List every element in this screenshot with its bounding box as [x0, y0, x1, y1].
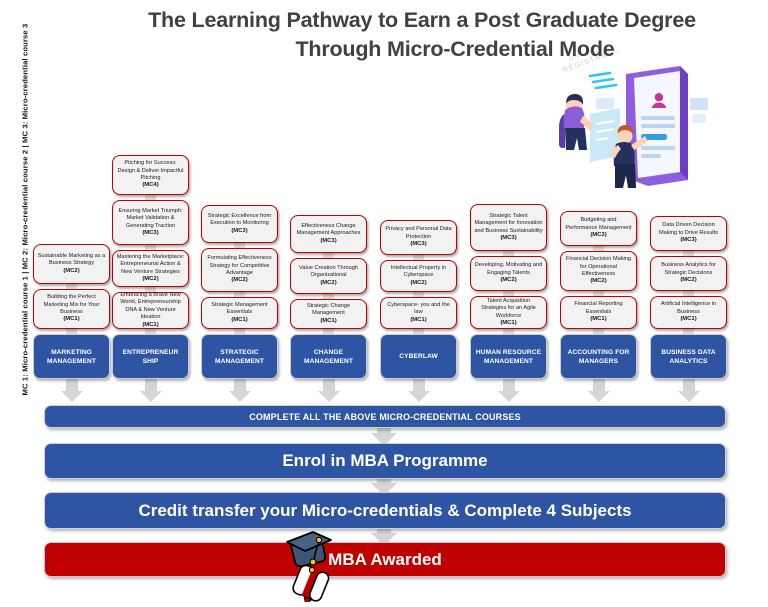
- category-label: BUSINESS DATA ANALYTICS: [653, 348, 724, 366]
- micro-credential-box[interactable]: Strategic Talent Management for Innovati…: [470, 204, 547, 251]
- micro-credential-box[interactable]: Budgeting and Performance Management(MC3…: [560, 211, 637, 246]
- micro-credential-box[interactable]: Business Analytics for Strategic Decisio…: [650, 256, 727, 291]
- micro-credential-code: (MC2): [590, 278, 606, 284]
- micro-credential-box[interactable]: Privacy and Personal Data Protection(MC3…: [380, 220, 457, 255]
- micro-credential-label: Cyberspace- you and the law(MC1): [384, 302, 453, 324]
- micro-credential-label: Financial Decision Making for Operationa…: [564, 256, 633, 286]
- micro-credential-box[interactable]: Ensuring Market Triumph: Market Validati…: [112, 200, 189, 245]
- micro-credential-box[interactable]: Intellectual Property in Cyberspace(MC2): [380, 260, 457, 292]
- micro-credential-code: (MC4): [142, 182, 158, 188]
- category-down-arrow: [290, 379, 367, 407]
- micro-credential-label: Ensuring Market Triumph: Market Validati…: [116, 208, 185, 238]
- category-label: HUMAN RESOURCE MANAGEMENT: [473, 348, 544, 366]
- category-label: MARKETING MANAGEMENT: [36, 348, 107, 366]
- micro-credential-code: (MC1): [231, 317, 247, 323]
- category-down-arrow: [470, 379, 547, 407]
- micro-credential-code: (MC2): [410, 280, 426, 286]
- category-label: ACCOUNTING FOR MANAGERS: [563, 348, 634, 366]
- micro-credential-label: Strategic Talent Management for Innovati…: [474, 213, 543, 243]
- category-label: CHANGE MANAGEMENT: [293, 348, 364, 366]
- micro-credential-box[interactable]: Sustainable Marketing as a Business Stra…: [33, 244, 110, 284]
- micro-credential-code: (MC1): [680, 316, 696, 322]
- micro-credential-code: (MC3): [590, 232, 606, 238]
- category-down-arrow: [650, 379, 727, 407]
- micro-credential-box[interactable]: Financial Reporting Essentials(MC1): [560, 296, 637, 329]
- micro-credential-box[interactable]: Mastering the Marketplace: Entrepreneuri…: [112, 250, 189, 287]
- page-title-line2: Through Micro-Credential Mode: [120, 35, 730, 64]
- micro-credential-label: Formulating Effectiveness Strategy for C…: [205, 255, 274, 285]
- category-box[interactable]: STRATEGIC MANAGEMENT: [201, 334, 278, 379]
- micro-credential-code: (MC2): [142, 276, 158, 282]
- category-down-arrow: [560, 379, 637, 407]
- micro-credential-label: Budgeting and Performance Management(MC3…: [564, 217, 633, 239]
- micro-credential-code: (MC3): [320, 238, 336, 244]
- micro-credential-box[interactable]: Value Creation Through Organizational(MC…: [290, 258, 367, 294]
- micro-credential-label: Developing, Motivating and Engaging Tale…: [474, 262, 543, 284]
- category-box[interactable]: CYBERLAW: [380, 334, 457, 379]
- micro-credential-code: (MC1): [410, 317, 426, 323]
- category-label: ENTREPRENEUR SHIP: [115, 348, 186, 366]
- category-down-arrow: [33, 379, 110, 407]
- micro-credential-label: Strategic Excellence from Execution to M…: [205, 213, 274, 235]
- micro-credential-label: Effectiveness Change Management Approach…: [294, 223, 363, 245]
- micro-credential-box[interactable]: Data Driven Decision Making to Drive Res…: [650, 216, 727, 251]
- micro-credential-box[interactable]: Talent Acquisition Strategies for an Agi…: [470, 296, 547, 329]
- micro-credential-box[interactable]: Strategic Excellence from Execution to M…: [201, 205, 278, 243]
- micro-credential-box[interactable]: Artificial Intelligence in Business(MC1): [650, 296, 727, 329]
- micro-credential-label: Business Analytics for Strategic Decisio…: [654, 262, 723, 284]
- micro-credential-label: Sustainable Marketing as a Business Stra…: [37, 253, 106, 275]
- micro-credential-label: Privacy and Personal Data Protection(MC3…: [384, 226, 453, 248]
- micro-credential-box[interactable]: Strategic Change Management(MC1): [290, 299, 367, 329]
- page-title-line1: The Learning Pathway to Earn a Post Grad…: [120, 6, 730, 35]
- micro-credential-label: Strategic Management Essentials(MC1): [205, 302, 274, 324]
- micro-credential-code: (MC2): [231, 277, 247, 283]
- micro-credential-code: (MC3): [680, 237, 696, 243]
- micro-credential-label: Artificial Intelligence in Business(MC1): [654, 301, 723, 323]
- category-box[interactable]: ENTREPRENEUR SHIP: [112, 334, 189, 379]
- page-title: The Learning Pathway to Earn a Post Grad…: [120, 6, 730, 64]
- category-box[interactable]: ACCOUNTING FOR MANAGERS: [560, 334, 637, 379]
- micro-credential-label: Mastering the Marketplace: Entrepreneuri…: [116, 254, 185, 284]
- category-label: CYBERLAW: [399, 352, 438, 361]
- micro-credential-code: (MC3): [500, 235, 516, 241]
- micro-credential-box[interactable]: Effectiveness Change Management Approach…: [290, 215, 367, 253]
- micro-credential-label: Talent Acquisition Strategies for an Agi…: [474, 298, 543, 328]
- category-down-arrow: [201, 379, 278, 407]
- micro-credential-code: (MC1): [320, 318, 336, 324]
- micro-credential-code: (MC2): [680, 277, 696, 283]
- category-label: STRATEGIC MANAGEMENT: [204, 348, 275, 366]
- micro-credential-box[interactable]: Developing, Motivating and Engaging Tale…: [470, 256, 547, 291]
- micro-credential-box[interactable]: Pitching for Success: Design & Deliver I…: [112, 155, 189, 195]
- micro-credential-box[interactable]: Embracing a Brave New World, Entrepreneu…: [112, 292, 189, 329]
- bar-complete-courses[interactable]: COMPLETE ALL THE ABOVE MICRO-CREDENTIAL …: [44, 405, 726, 428]
- micro-credential-label: Data Driven Decision Making to Drive Res…: [654, 222, 723, 244]
- category-box[interactable]: MARKETING MANAGEMENT: [33, 334, 110, 379]
- micro-credential-label: Building the Perfect Marketing Mix for Y…: [37, 294, 106, 324]
- micro-credential-code: (MC1): [142, 322, 158, 328]
- bar-mba-awarded[interactable]: MBA Awarded: [44, 542, 726, 577]
- micro-credential-label: Value Creation Through Organizational(MC…: [294, 265, 363, 287]
- micro-credential-code: (MC1): [63, 316, 79, 322]
- micro-credential-code: (MC3): [231, 228, 247, 234]
- category-box[interactable]: BUSINESS DATA ANALYTICS: [650, 334, 727, 379]
- micro-credential-code: (MC2): [500, 277, 516, 283]
- category-down-arrow: [380, 379, 457, 407]
- micro-credential-label: Embracing a Brave New World, Entrepreneu…: [116, 292, 185, 329]
- micro-credential-box[interactable]: Financial Decision Making for Operationa…: [560, 251, 637, 291]
- micro-credential-box[interactable]: Building the Perfect Marketing Mix for Y…: [33, 289, 110, 329]
- micro-credential-label: Strategic Change Management(MC1): [294, 303, 363, 325]
- micro-credential-label: Pitching for Success: Design & Deliver I…: [116, 160, 185, 190]
- micro-credential-box[interactable]: Formulating Effectiveness Strategy for C…: [201, 248, 278, 292]
- micro-credential-code: (MC1): [590, 316, 606, 322]
- category-box[interactable]: HUMAN RESOURCE MANAGEMENT: [470, 334, 547, 379]
- micro-credential-code: (MC2): [320, 280, 336, 286]
- category-box[interactable]: CHANGE MANAGEMENT: [290, 334, 367, 379]
- micro-credential-label: Financial Reporting Essentials(MC1): [564, 301, 633, 323]
- micro-credential-code: (MC1): [500, 320, 516, 326]
- micro-credential-box[interactable]: Strategic Management Essentials(MC1): [201, 297, 278, 329]
- micro-credential-code: (MC3): [142, 230, 158, 236]
- bar-credit-transfer[interactable]: Credit transfer your Micro-credentials &…: [44, 492, 726, 529]
- micro-credential-code: (MC3): [410, 241, 426, 247]
- graduation-cap-icon: [277, 528, 339, 602]
- category-down-arrow: [112, 379, 189, 407]
- micro-credential-code: (MC2): [63, 268, 79, 274]
- micro-credential-label: Intellectual Property in Cyberspace(MC2): [384, 265, 453, 287]
- bar-enrol-mba[interactable]: Enrol in MBA Programme: [44, 443, 726, 479]
- micro-credential-box[interactable]: Cyberspace- you and the law(MC1): [380, 297, 457, 329]
